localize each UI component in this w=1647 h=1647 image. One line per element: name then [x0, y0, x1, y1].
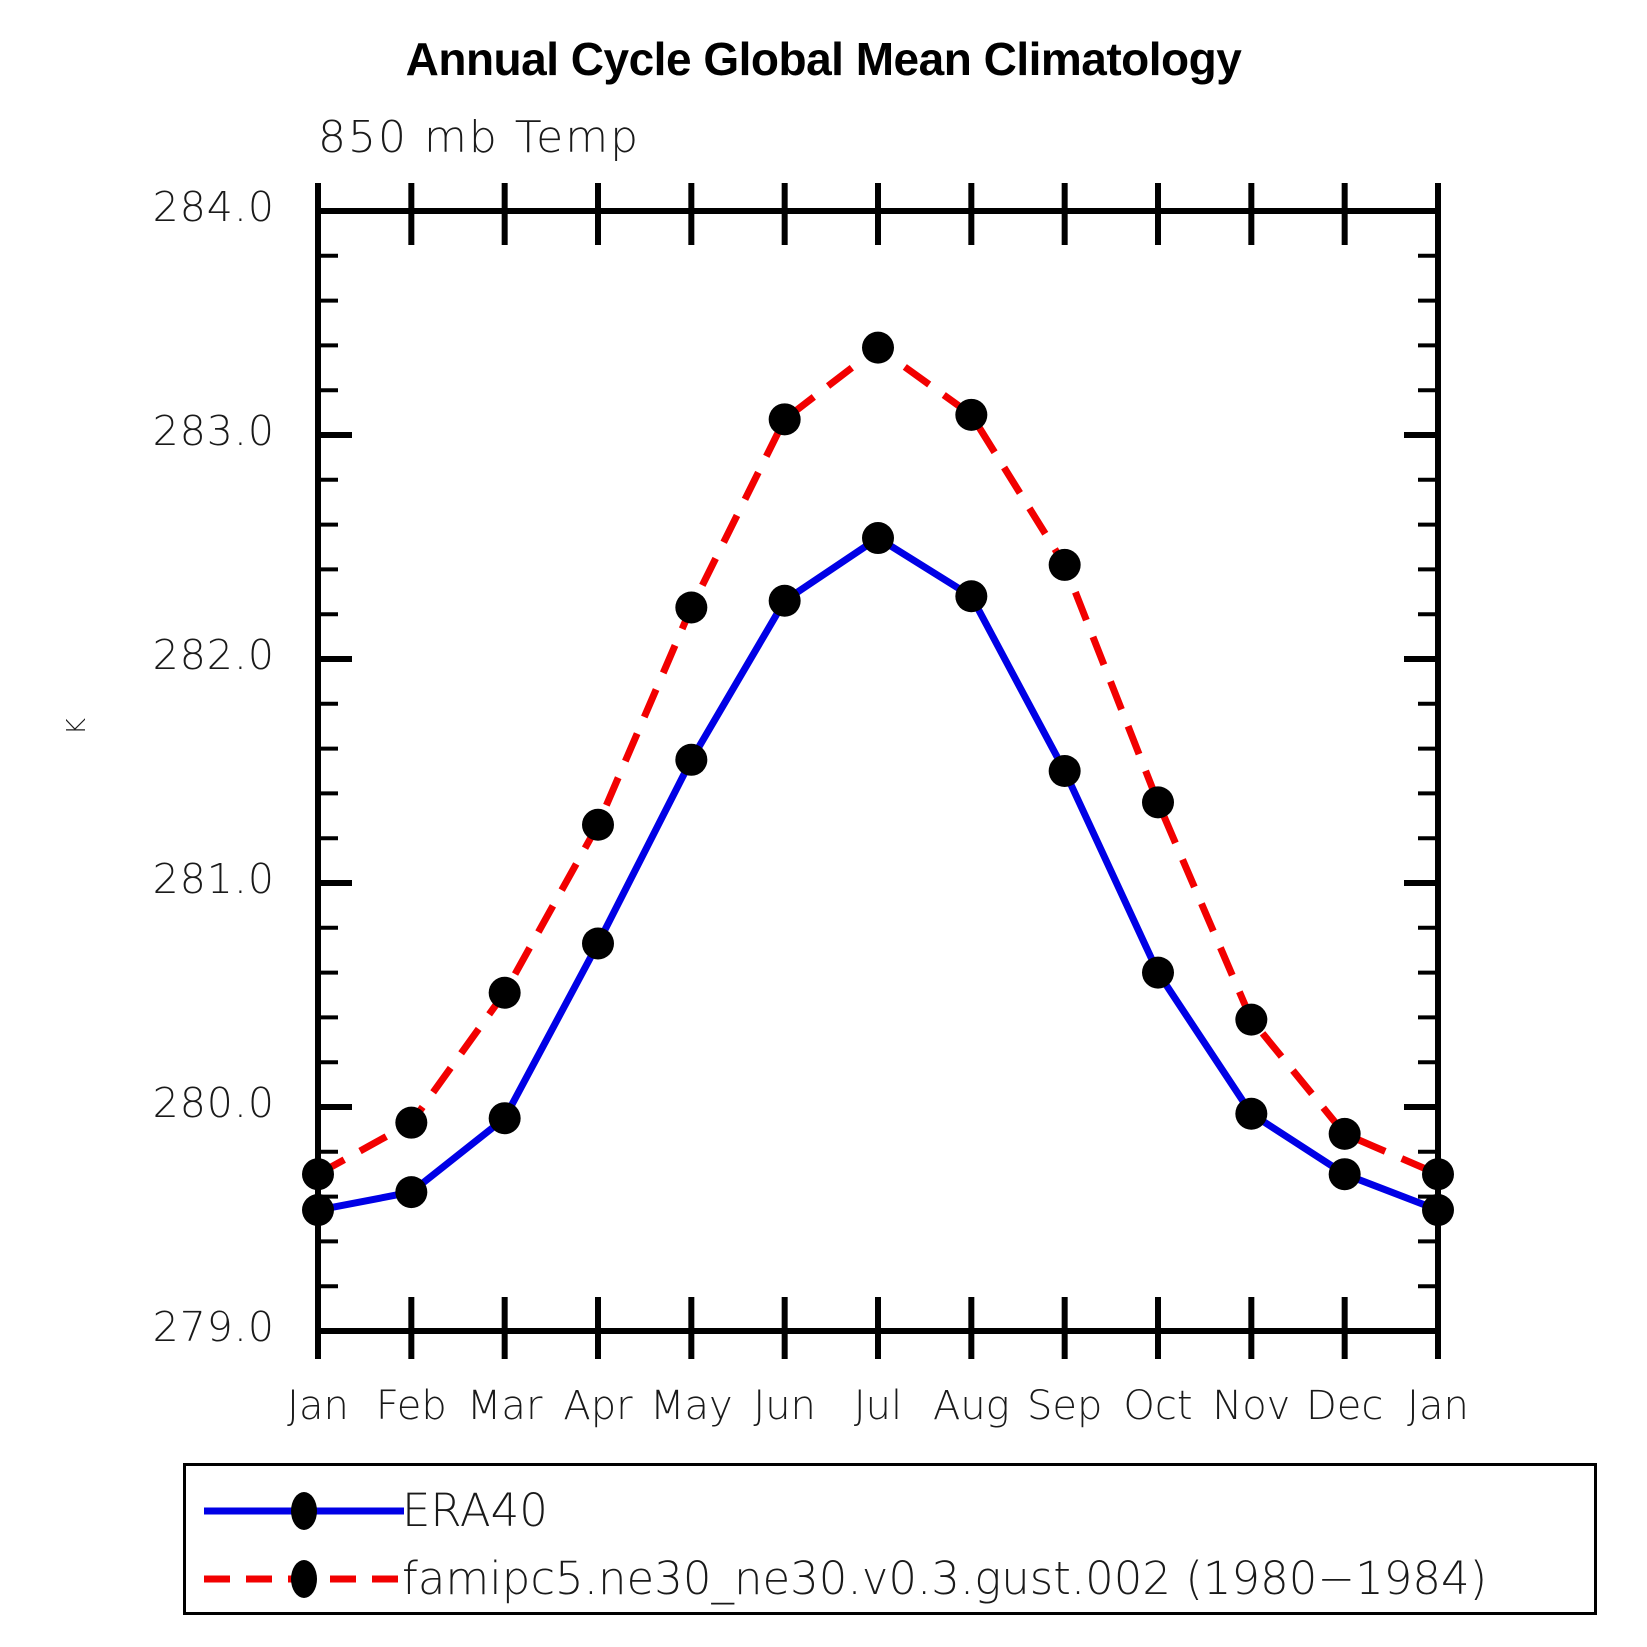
axis-frame — [318, 211, 1438, 1331]
data-point-marker — [675, 591, 707, 623]
data-point-marker — [395, 1176, 427, 1208]
data-point-marker — [489, 977, 521, 1009]
data-point-marker — [1142, 786, 1174, 818]
data-point-marker — [1422, 1158, 1454, 1190]
data-point-marker — [1142, 957, 1174, 989]
series-line-1 — [318, 348, 1438, 1175]
legend-label-era40: ERA40 — [402, 1480, 548, 1542]
legend-swatch-famipc5 — [204, 1548, 404, 1610]
data-point-marker — [955, 399, 987, 431]
legend-swatch-era40 — [204, 1480, 404, 1542]
data-point-marker — [769, 585, 801, 617]
data-point-marker — [582, 927, 614, 959]
chart-page: Annual Cycle Global Mean Climatology 850… — [0, 0, 1647, 1647]
data-point-marker — [1235, 1098, 1267, 1130]
data-point-marker — [1422, 1194, 1454, 1226]
data-point-marker — [1329, 1158, 1361, 1190]
data-point-marker — [862, 332, 894, 364]
legend-label-famipc5: famipc5.ne30_ne30.v0.3.gust.002 (1980−19… — [402, 1548, 1487, 1610]
plot-area — [0, 0, 1647, 1647]
data-series-group — [302, 332, 1454, 1226]
data-point-marker — [769, 403, 801, 435]
axes-frame — [318, 211, 1438, 1331]
data-point-marker — [302, 1194, 334, 1226]
data-point-marker — [395, 1107, 427, 1139]
data-point-marker — [862, 522, 894, 554]
series-line-0 — [318, 538, 1438, 1210]
data-point-marker — [1049, 549, 1081, 581]
data-point-marker — [302, 1158, 334, 1190]
data-point-marker — [1329, 1118, 1361, 1150]
data-point-marker — [675, 744, 707, 776]
data-point-marker — [489, 1102, 521, 1134]
data-point-marker — [1049, 755, 1081, 787]
data-point-marker — [955, 580, 987, 612]
legend-entry-1[interactable]: famipc5.ne30_ne30.v0.3.gust.002 (1980−19… — [186, 1548, 1594, 1610]
data-point-marker — [582, 809, 614, 841]
legend-entry-0[interactable]: ERA40 — [186, 1480, 1594, 1542]
legend: ERA40 famipc5.ne30_ne30.v0.3.gust.002 (1… — [183, 1463, 1597, 1615]
data-point-marker — [1235, 1004, 1267, 1036]
